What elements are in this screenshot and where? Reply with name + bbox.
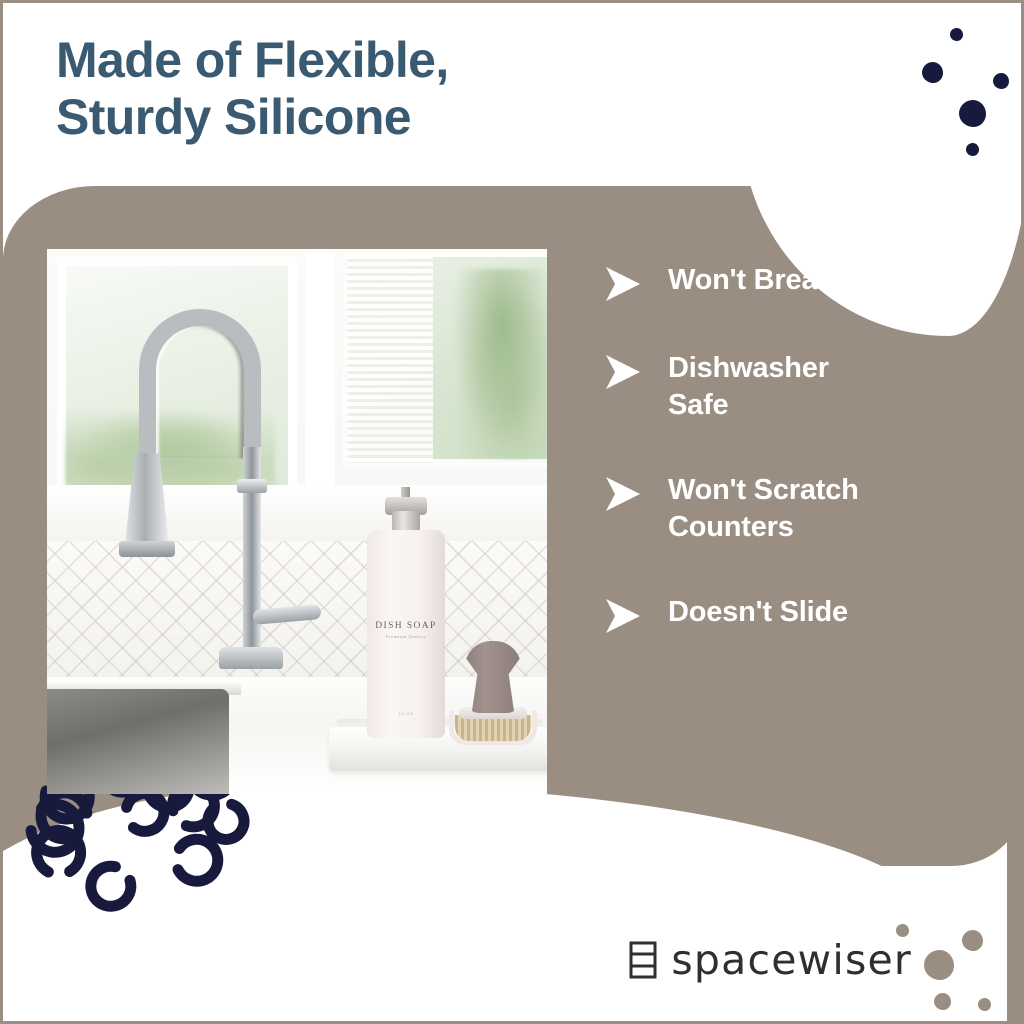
product-photo-scene: DISH SOAP Premium Quality 16 OZ	[47, 249, 547, 794]
decor-dot	[978, 998, 991, 1011]
page-title: Made of Flexible, Sturdy Silicone	[56, 32, 449, 146]
shelf-icon	[628, 941, 658, 979]
navy-dot-cluster	[904, 0, 1024, 130]
photo-window-blind	[347, 255, 433, 463]
brand-name: spacewiser	[671, 936, 912, 984]
decor-dot	[966, 143, 979, 156]
arrow-bullet-icon	[604, 266, 642, 302]
decor-dot	[922, 62, 943, 83]
soap-label-sub: Premium Quality	[367, 634, 445, 639]
feature-item: Doesn't Slide	[604, 594, 994, 634]
decor-dot	[993, 73, 1009, 89]
decor-dot	[962, 930, 983, 951]
soap-label-main: DISH SOAP	[367, 621, 445, 631]
photo-faucet-arc	[139, 309, 261, 459]
header: Made of Flexible, Sturdy Silicone	[0, 0, 1024, 190]
arrow-bullet-icon	[604, 476, 642, 512]
decor-dot	[924, 950, 954, 980]
photo-faucet-nozzle	[119, 541, 175, 557]
feature-list: Won't Break Dishwasher Safe Won't Scratc…	[604, 262, 994, 634]
decor-dot	[959, 100, 986, 127]
photo-soap-bottle-volume: 16 OZ	[367, 711, 445, 716]
arrow-bullet-icon	[604, 598, 642, 634]
feature-item: Won't Scratch Counters	[604, 472, 994, 546]
feature-item: Won't Break	[604, 262, 994, 302]
feature-label: Won't Break	[668, 262, 833, 299]
photo-window-sill	[47, 485, 547, 543]
brand-logo[interactable]: spacewiser	[628, 936, 912, 984]
infographic-canvas: Made of Flexible, Sturdy Silicone	[0, 0, 1024, 1024]
photo-soap-bottle-label: DISH SOAP Premium Quality	[367, 621, 445, 657]
photo-faucet-collar	[237, 479, 267, 493]
feature-label: Won't Scratch Counters	[668, 472, 859, 546]
photo-sink-basin	[47, 689, 229, 794]
feature-item: Dishwasher Safe	[604, 350, 994, 424]
photo-window-mullion	[305, 249, 335, 497]
feature-label: Doesn't Slide	[668, 594, 848, 631]
photo-foliage-right	[447, 269, 547, 459]
decor-dot	[934, 993, 951, 1010]
photo-faucet-base	[219, 647, 283, 669]
decor-dot	[950, 28, 963, 41]
product-photo: DISH SOAP Premium Quality 16 OZ	[47, 249, 547, 794]
feature-label: Dishwasher Safe	[668, 350, 829, 424]
arrow-bullet-icon	[604, 354, 642, 390]
